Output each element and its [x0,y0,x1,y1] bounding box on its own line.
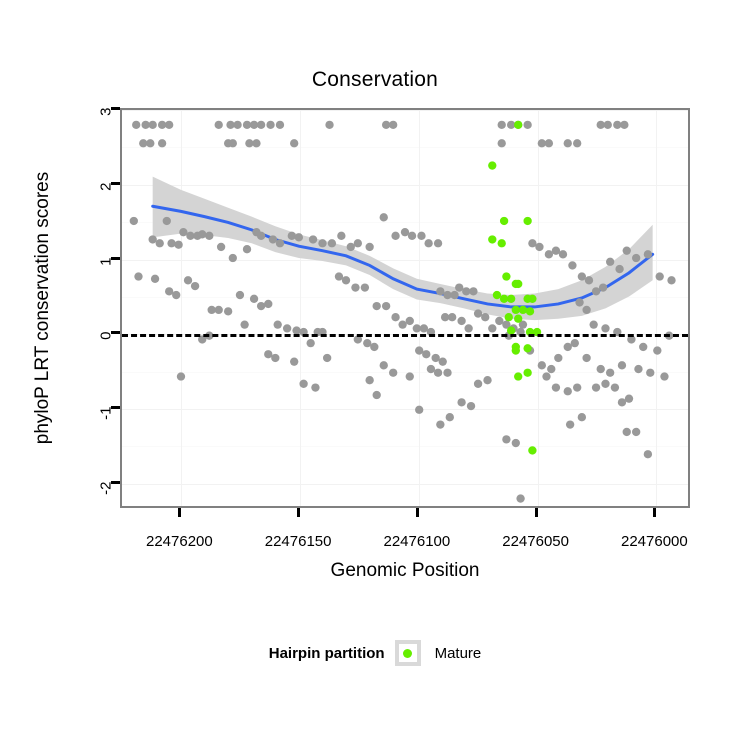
data-point [523,121,531,129]
data-point [606,258,614,266]
series-other [130,121,676,503]
data-point [335,272,343,280]
data-point [512,439,520,447]
y-axis-tick-label: 2 [98,182,115,202]
x-axis-tick [535,508,538,517]
data-point [354,239,362,247]
x-axis-tick-label: 22476050 [502,533,569,550]
data-point [342,276,350,284]
data-point [415,346,423,354]
data-point [653,346,661,354]
data-point [526,307,534,315]
data-point [306,339,314,347]
data-point [439,358,447,366]
data-point [198,230,206,238]
data-point [498,139,506,147]
data-point [240,320,248,328]
data-point [288,232,296,240]
data-point [406,372,414,380]
data-point [582,354,590,362]
data-point [481,313,489,321]
data-point [644,250,652,258]
data-point [391,313,399,321]
data-point [514,121,522,129]
legend: Hairpin partition Mature [0,640,750,666]
data-point [424,239,432,247]
data-point [500,217,508,225]
data-point [575,298,583,306]
data-point [389,121,397,129]
data-point [632,254,640,262]
data-point [514,315,522,323]
data-point [229,139,237,147]
data-point [269,235,277,243]
data-point [328,239,336,247]
data-point [523,344,531,352]
data-point [618,398,626,406]
data-point [427,365,435,373]
data-point [564,343,572,351]
data-point [252,139,260,147]
legend-key-mature[interactable] [395,640,421,666]
legend-title: Hairpin partition [269,645,385,662]
data-point [564,139,572,147]
data-point [552,383,560,391]
data-point [507,295,515,303]
data-point [667,276,675,284]
data-point [295,233,303,241]
data-point [464,324,472,332]
data-point [632,428,640,436]
data-point [620,121,628,129]
data-point [592,383,600,391]
data-point [545,139,553,147]
data-point [604,121,612,129]
data-point [606,369,614,377]
data-point [660,372,668,380]
data-point [514,280,522,288]
data-point [469,287,477,295]
y-axis-tick-label: 0 [98,332,115,352]
data-point [578,272,586,280]
data-point [391,232,399,240]
data-point [271,354,279,362]
data-point [318,239,326,247]
data-point [149,121,157,129]
data-point [436,287,444,295]
data-point [450,291,458,299]
data-point [505,313,513,321]
x-axis-tick-label: 22476100 [384,533,451,550]
data-point [646,369,654,377]
data-point [457,398,465,406]
data-point [512,306,520,314]
data-point [365,376,373,384]
data-point [373,302,381,310]
x-axis-tick [297,508,300,517]
data-point [191,282,199,290]
data-point [380,213,388,221]
data-point [538,361,546,369]
data-point [644,450,652,458]
data-point [132,121,140,129]
x-axis-tick-label: 22476150 [265,533,332,550]
data-point [236,291,244,299]
data-point [165,287,173,295]
data-point [165,121,173,129]
x-axis-tick-label: 22476200 [146,533,213,550]
data-point [163,217,171,225]
data-point [467,402,475,410]
data-point [264,300,272,308]
data-point [498,121,506,129]
data-point [573,383,581,391]
data-point [257,302,265,310]
data-point [151,275,159,283]
data-point [611,383,619,391]
data-point [493,291,501,299]
data-point [474,309,482,317]
x-axis-tick-label: 22476000 [621,533,688,550]
data-point [488,324,496,332]
data-point [351,283,359,291]
data-point [172,291,180,299]
data-point [502,272,510,280]
data-point [571,339,579,347]
data-point [625,395,633,403]
data-point [519,306,527,314]
data-point [432,354,440,362]
data-point [615,265,623,273]
zero-reference-line [122,334,688,337]
data-point [578,413,586,421]
data-point [601,380,609,388]
data-point [406,317,414,325]
y-axis-tick-label: 1 [98,257,115,277]
data-point [229,254,237,262]
data-point [566,420,574,428]
data-point [264,350,272,358]
data-point [309,235,317,243]
legend-label-mature: Mature [435,645,482,662]
scatter-points-layer [122,110,688,506]
data-point [167,239,175,247]
data-point [528,295,536,303]
data-point [130,217,138,225]
data-point [488,161,496,169]
data-point [276,121,284,129]
data-point [592,287,600,295]
data-point [623,428,631,436]
data-point [290,358,298,366]
data-point [217,243,225,251]
data-point [597,365,605,373]
data-point [156,239,164,247]
data-point [250,295,258,303]
data-point [299,380,307,388]
data-point [363,339,371,347]
data-point [599,283,607,291]
data-point [582,306,590,314]
x-axis-tick [653,508,656,517]
legend-marker-dot [403,649,412,658]
data-point [623,247,631,255]
data-point [215,306,223,314]
data-point [488,235,496,243]
data-point [535,243,543,251]
data-point [523,369,531,377]
data-point [134,272,142,280]
data-point [656,272,664,280]
y-axis-tick-label: 3 [98,108,115,128]
data-point [528,239,536,247]
data-point [589,320,597,328]
data-point [455,283,463,291]
data-point [146,139,154,147]
data-point [564,387,572,395]
data-point [257,121,265,129]
data-point [462,287,470,295]
data-point [483,376,491,384]
data-point [179,228,187,236]
data-point [502,435,510,443]
data-point [474,380,482,388]
data-point [446,413,454,421]
data-point [361,283,369,291]
data-point [434,369,442,377]
x-axis-tick [416,508,419,517]
data-point [257,232,265,240]
data-point [512,346,520,354]
data-point [158,139,166,147]
data-point [311,383,319,391]
data-point [634,365,642,373]
data-point [552,247,560,255]
data-point [243,245,251,253]
data-point [573,139,581,147]
data-point [408,232,416,240]
data-point [347,243,355,251]
data-point [436,420,444,428]
data-point [174,241,182,249]
y-axis-tick-label: -1 [98,407,115,427]
data-point [639,343,647,351]
data-point [373,391,381,399]
data-point [184,276,192,284]
data-point [495,317,503,325]
data-point [233,121,241,129]
data-point [266,121,274,129]
data-point [420,324,428,332]
data-point [618,361,626,369]
data-point [365,243,373,251]
data-point [516,494,524,502]
y-axis-tick-label: -2 [98,481,115,501]
data-point [434,239,442,247]
data-point [215,121,223,129]
data-point [415,406,423,414]
x-axis-tick [178,508,181,517]
data-point [422,350,430,358]
data-point [448,313,456,321]
data-point [205,232,213,240]
data-point [177,372,185,380]
data-point [380,361,388,369]
data-point [568,261,576,269]
data-point [514,372,522,380]
data-point [276,239,284,247]
data-point [417,232,425,240]
y-axis-title: phyloP LRT conservation scores [32,108,54,508]
data-point [554,354,562,362]
plot-panel [120,108,690,508]
data-point [523,217,531,225]
data-point [370,343,378,351]
conservation-chart-figure: Conservation phyloP LRT conservation sco… [0,0,750,750]
data-point [337,232,345,240]
data-point [274,320,282,328]
data-point [401,228,409,236]
data-point [559,250,567,258]
data-point [382,302,390,310]
data-point [149,235,157,243]
data-point [542,372,550,380]
data-point [443,369,451,377]
data-point [498,239,506,247]
data-point [290,139,298,147]
data-point [389,369,397,377]
data-point [457,317,465,325]
data-point [283,324,291,332]
x-axis-title: Genomic Position [120,560,690,582]
data-point [398,320,406,328]
data-point [528,446,536,454]
data-point [585,276,593,284]
data-point [325,121,333,129]
data-point [545,250,553,258]
data-point [601,324,609,332]
chart-title: Conservation [0,68,750,92]
data-point [547,365,555,373]
series-mature [488,121,541,455]
data-point [224,307,232,315]
data-point [323,354,331,362]
